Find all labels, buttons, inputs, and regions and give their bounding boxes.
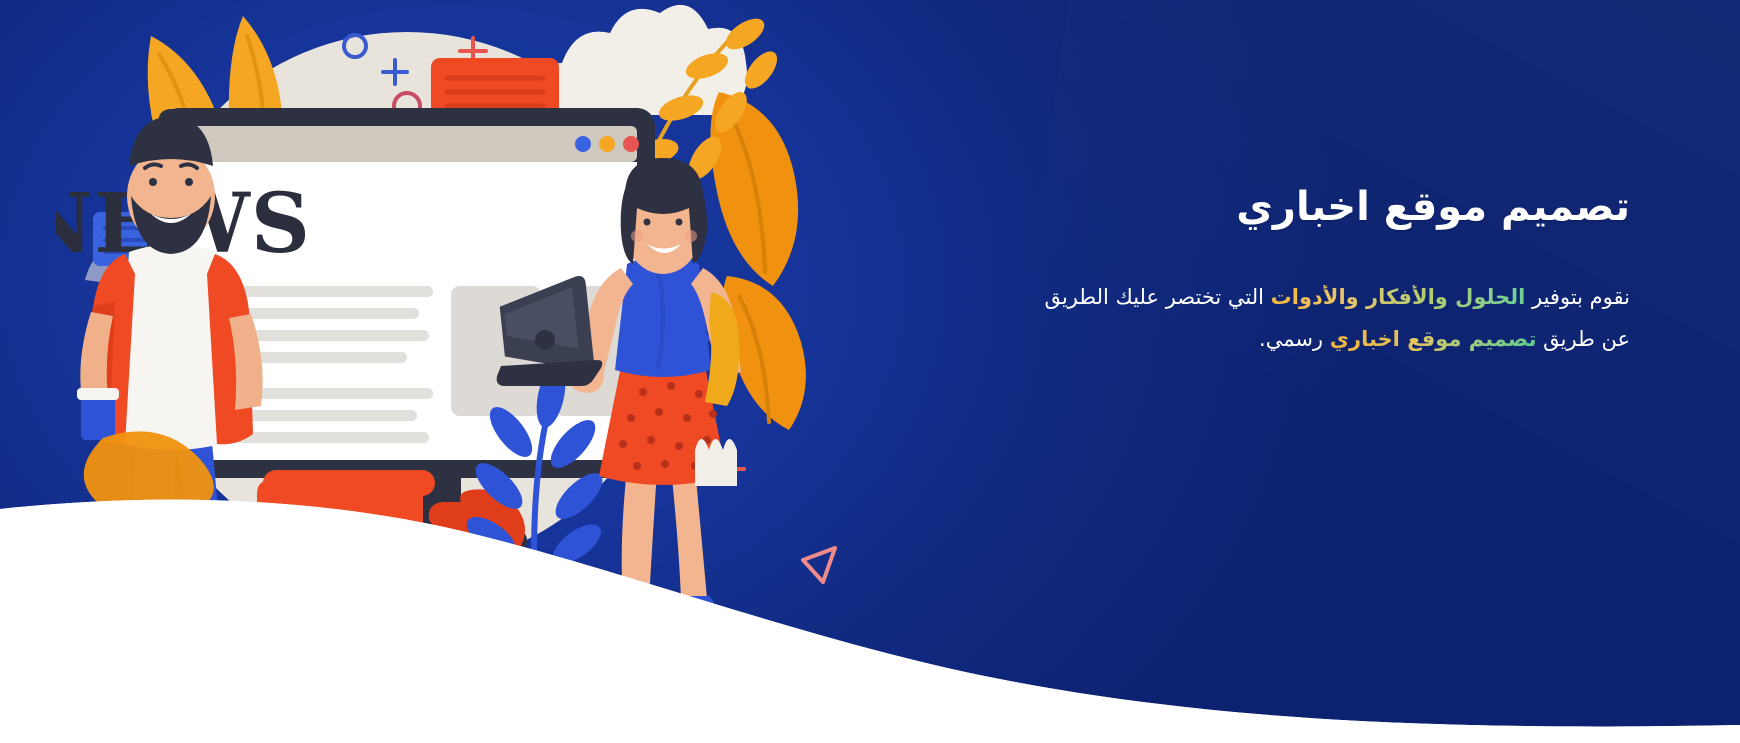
pink-triangle-icon <box>793 540 841 588</box>
hero-banner: NEWS <box>0 0 1740 743</box>
page-title: تصميم موقع اخباري <box>1020 180 1630 234</box>
hero-paragraph: نقوم بتوفير الحلول والأفكار والأدوات الت… <box>1020 276 1630 360</box>
paragraph-part-3: رسمي. <box>1259 327 1330 351</box>
paragraph-part-1: نقوم بتوفير <box>1525 285 1630 309</box>
paragraph-highlight-1: الحلول والأفكار والأدوات <box>1271 285 1526 309</box>
paragraph-highlight-2: تصميم موقع اخباري <box>1330 327 1537 351</box>
hero-text-column: تصميم موقع اخباري نقوم بتوفير الحلول وال… <box>1020 180 1630 360</box>
hero-illustration: NEWS <box>55 0 865 680</box>
background-light-sweep <box>955 0 1740 743</box>
